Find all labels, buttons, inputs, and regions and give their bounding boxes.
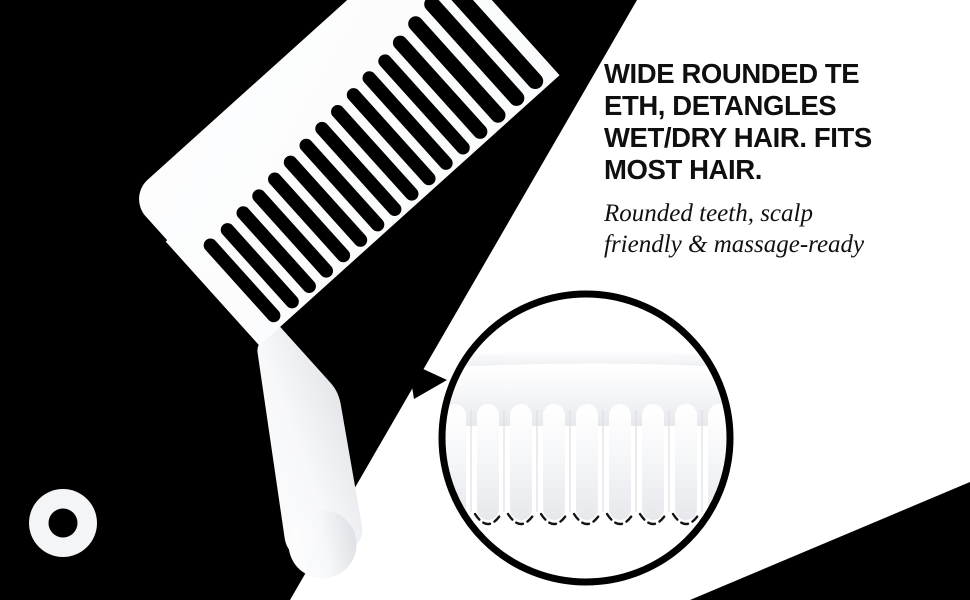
product-feature-banner: WIDE ROUNDED TE ETH, DETANGLES WET/DRY H… [0, 0, 970, 600]
magnifier-callout [0, 0, 970, 600]
callout-pointer-icon [408, 362, 447, 399]
